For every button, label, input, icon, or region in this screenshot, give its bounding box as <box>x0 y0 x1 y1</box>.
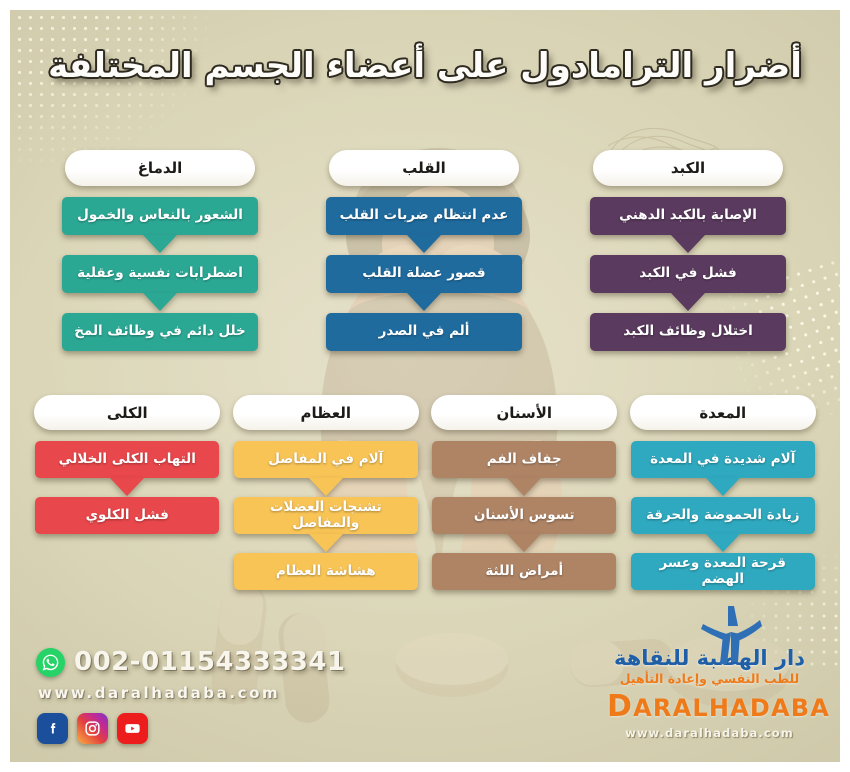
symptom-label: عدم انتظام ضربات القلب <box>334 208 515 224</box>
logo-arabic-sub: للطب النفسي وإعادة التأهيل <box>607 671 812 686</box>
phone-number[interactable]: 002-01154333341 <box>74 647 346 677</box>
symptom-label: ألم في الصدر <box>373 324 476 340</box>
symptom-card[interactable]: التهاب الكلى الخلالي <box>35 441 219 478</box>
symptom-card[interactable]: الإصابة بالكبد الدهني <box>590 197 786 235</box>
symptom-card[interactable]: تسوس الأسنان <box>432 497 616 534</box>
symptom-card[interactable]: هشاشة العظام <box>234 553 418 590</box>
organ-header-liver[interactable]: الكبد <box>593 150 783 186</box>
symptom-card[interactable]: تشنجات العضلات والمفاصل <box>234 497 418 534</box>
symptom-card[interactable]: أمراض اللثة <box>432 553 616 590</box>
title-container: أضرار الترامادول على أعضاء الجسم المختلف… <box>10 46 840 86</box>
organ-row-upper: الدماغ الشعور بالنعاس والخمول اضطرابات ن… <box>28 150 822 351</box>
organ-column-bones: العظام آلام في المفاصل تشنجات العضلات وا… <box>227 395 426 590</box>
organ-header-teeth[interactable]: الأسنان <box>431 395 617 430</box>
symptom-label: قرحة المعدة وعسر الهضم <box>631 556 815 587</box>
page-title: أضرار الترامادول على أعضاء الجسم المختلف… <box>48 46 802 86</box>
symptom-card[interactable]: فشل الكلوي <box>35 497 219 534</box>
symptom-card[interactable]: خلل دائم في وظائف المخ <box>62 313 258 351</box>
symptom-card[interactable]: جفاف الفم <box>432 441 616 478</box>
company-logo[interactable]: دار الهضبة للنقاهة للطب النفسي وإعادة ال… <box>607 646 812 740</box>
logo-english-rest: ARALHADABA <box>633 694 830 722</box>
organ-header-label: الكلى <box>107 404 148 422</box>
symptom-label: تسوس الأسنان <box>468 508 581 524</box>
organ-row-lower: الكلى التهاب الكلى الخلالي فشل الكلوي ال… <box>28 395 822 590</box>
symptom-card[interactable]: آلام شديدة في المعدة <box>631 441 815 478</box>
symptom-label: آلام شديدة في المعدة <box>644 452 801 468</box>
symptom-label: اختلال وظائف الكبد <box>617 324 758 340</box>
symptom-label: فشل في الكبد <box>633 266 742 282</box>
symptom-label: زيادة الحموضة والحرقة <box>640 508 806 524</box>
symptom-label: التهاب الكلى الخلالي <box>53 452 202 468</box>
organ-header-label: الكبد <box>671 159 705 177</box>
symptom-label: تشنجات العضلات والمفاصل <box>234 500 418 531</box>
logo-person-mark-icon <box>698 604 764 666</box>
organ-header-label: الأسنان <box>496 404 552 422</box>
organ-column-liver: الكبد الإصابة بالكبد الدهني فشل في الكبد… <box>556 150 820 351</box>
organ-header-stomach[interactable]: المعدة <box>630 395 816 430</box>
infographic-canvas: أضرار الترامادول على أعضاء الجسم المختلف… <box>10 10 840 762</box>
logo-url: www.daralhadaba.com <box>607 726 812 740</box>
symptom-card[interactable]: فشل في الكبد <box>590 255 786 293</box>
symptom-card[interactable]: قرحة المعدة وعسر الهضم <box>631 553 815 590</box>
symptom-card[interactable]: عدم انتظام ضربات القلب <box>326 197 522 235</box>
symptom-label: الشعور بالنعاس والخمول <box>71 208 249 224</box>
symptom-label: الإصابة بالكبد الدهني <box>613 208 763 224</box>
phone-row[interactable]: 002-01154333341 <box>36 647 346 677</box>
organ-header-label: الدماغ <box>138 159 183 177</box>
symptom-label: هشاشة العظام <box>270 564 382 580</box>
organ-column-kidney: الكلى التهاب الكلى الخلالي فشل الكلوي <box>28 395 227 590</box>
symptom-card[interactable]: اضطرابات نفسية وعقلية <box>62 255 258 293</box>
symptom-label: آلام في المفاصل <box>262 452 389 468</box>
symptom-card[interactable]: ألم في الصدر <box>326 313 522 351</box>
whatsapp-icon[interactable] <box>36 648 65 677</box>
organ-column-teeth: الأسنان جفاف الفم تسوس الأسنان أمراض الل… <box>425 395 624 590</box>
symptom-label: فشل الكلوي <box>80 508 175 524</box>
symptom-card[interactable]: الشعور بالنعاس والخمول <box>62 197 258 235</box>
organ-header-kidney[interactable]: الكلى <box>34 395 220 430</box>
symptom-label: خلل دائم في وظائف المخ <box>68 324 252 340</box>
instagram-icon[interactable] <box>77 713 108 744</box>
organ-header-bones[interactable]: العظام <box>233 395 419 430</box>
social-links <box>37 713 346 744</box>
symptom-card[interactable]: اختلال وظائف الكبد <box>590 313 786 351</box>
organ-header-heart[interactable]: القلب <box>329 150 519 186</box>
facebook-icon[interactable] <box>37 713 68 744</box>
symptom-card[interactable]: زيادة الحموضة والحرقة <box>631 497 815 534</box>
organ-column-stomach: المعدة آلام شديدة في المعدة زيادة الحموض… <box>624 395 823 590</box>
organ-header-label: المعدة <box>699 404 746 422</box>
youtube-icon[interactable] <box>117 713 148 744</box>
website-url[interactable]: www.daralhadaba.com <box>38 684 346 702</box>
organ-column-heart: القلب عدم انتظام ضربات القلب قصور عضلة ا… <box>292 150 556 351</box>
symptom-card[interactable]: آلام في المفاصل <box>234 441 418 478</box>
organ-header-label: العظام <box>301 404 351 422</box>
symptom-label: أمراض اللثة <box>479 564 569 580</box>
symptom-label: جفاف الفم <box>481 452 568 468</box>
logo-english-initial: D <box>607 689 633 724</box>
infographic-root: أضرار الترامادول على أعضاء الجسم المختلف… <box>0 0 850 772</box>
footer-contact-block: 002-01154333341 www.daralhadaba.com <box>36 647 346 744</box>
organ-column-brain: الدماغ الشعور بالنعاس والخمول اضطرابات ن… <box>28 150 292 351</box>
symptom-card[interactable]: قصور عضلة القلب <box>326 255 522 293</box>
organ-header-label: القلب <box>402 159 446 177</box>
logo-english-name: DARALHADABA <box>607 689 812 724</box>
symptom-label: اضطرابات نفسية وعقلية <box>71 266 249 282</box>
organ-header-brain[interactable]: الدماغ <box>65 150 255 186</box>
symptom-label: قصور عضلة القلب <box>356 266 491 282</box>
